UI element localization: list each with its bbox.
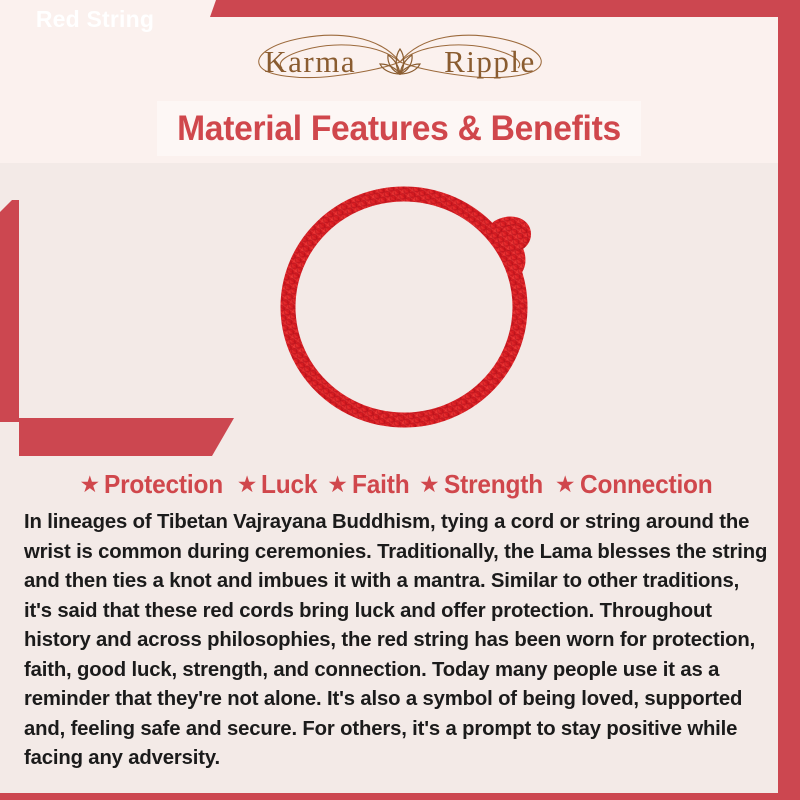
product-name-banner: [19, 418, 234, 456]
star-icon: ★: [237, 473, 258, 496]
star-icon: ★: [80, 473, 101, 496]
brand-name-left: Karma: [264, 44, 356, 80]
product-feature-card: Karma Ripple Material Features & Benefit…: [0, 0, 800, 800]
lotus-icon: [378, 45, 422, 79]
product-image-red-string-bracelet: [270, 172, 550, 437]
benefit-label-connection: Connection: [580, 469, 713, 500]
benefit-label-faith: Faith: [352, 469, 409, 500]
description-paragraph: In lineages of Tibetan Vajrayana Buddhis…: [24, 508, 772, 774]
star-icon: ★: [327, 473, 348, 496]
brand-logo: Karma Ripple: [0, 30, 800, 94]
benefit-label-luck: Luck: [261, 469, 317, 500]
decorative-band-bottom: [0, 793, 800, 800]
decorative-band-right: [778, 0, 800, 800]
page-title: Material Features & Benefits: [167, 101, 632, 156]
decorative-band-top-right: [210, 0, 800, 17]
decorative-band-left: [0, 200, 19, 422]
benefit-item-protection: ★ Protection: [80, 469, 231, 500]
star-icon: ★: [419, 473, 440, 496]
brand-name-right: Ripple: [444, 44, 536, 80]
product-name-label: Red String: [0, 0, 190, 38]
benefit-item-connection: ★ Connection: [555, 469, 721, 500]
benefit-item-luck: ★ Luck: [237, 469, 322, 500]
star-icon: ★: [555, 473, 576, 496]
benefit-label-strength: Strength: [444, 469, 543, 500]
benefit-item-faith: ★ Faith: [327, 469, 413, 500]
benefit-label-protection: Protection: [104, 469, 223, 500]
benefit-item-strength: ★ Strength: [419, 469, 549, 500]
benefits-list: ★ Protection ★ Luck ★ Faith ★ Strength ★…: [20, 466, 780, 502]
